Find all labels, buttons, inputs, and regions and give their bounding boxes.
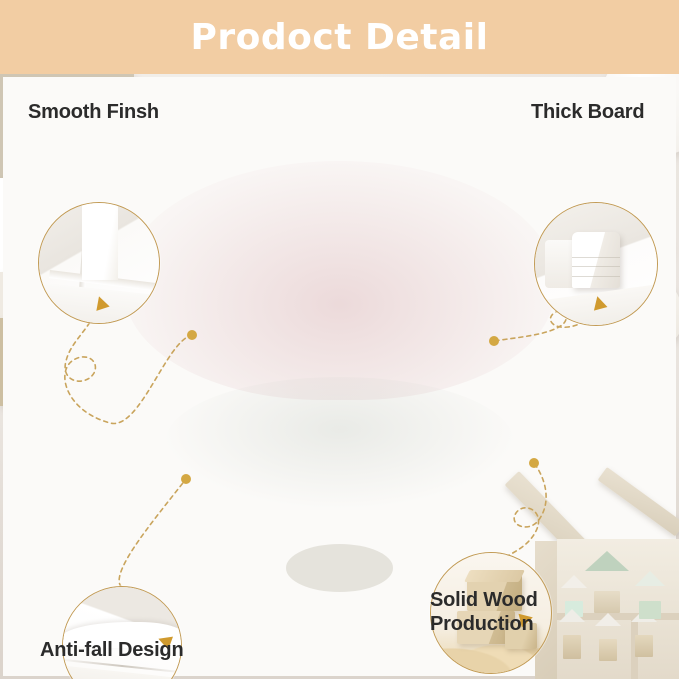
- bookshelf-roof-right: [598, 467, 679, 536]
- product-detail-image: Prodoct Detail: [0, 0, 679, 679]
- cloud-art-frame: [0, 318, 98, 406]
- house-bookshelf: [535, 463, 679, 679]
- callout-label-solid-wood: Solid Wood Production: [430, 588, 538, 637]
- header-banner: Prodoct Detail: [0, 0, 679, 74]
- product-scene: [0, 74, 679, 679]
- toy-block-green-2: [635, 571, 665, 604]
- callout-label-smooth-finish: Smooth Finsh: [28, 100, 159, 124]
- toy-block-green-roof: [585, 551, 629, 593]
- toy-block-white-1: [561, 575, 587, 604]
- toy-block-white-3: [595, 613, 621, 648]
- callout-label-anti-fall: Anti-fall Design: [40, 638, 183, 662]
- callout-label-thick-board: Thick Board: [531, 100, 644, 124]
- page-title: Prodoct Detail: [191, 17, 489, 58]
- toy-block-white-2: [559, 609, 585, 646]
